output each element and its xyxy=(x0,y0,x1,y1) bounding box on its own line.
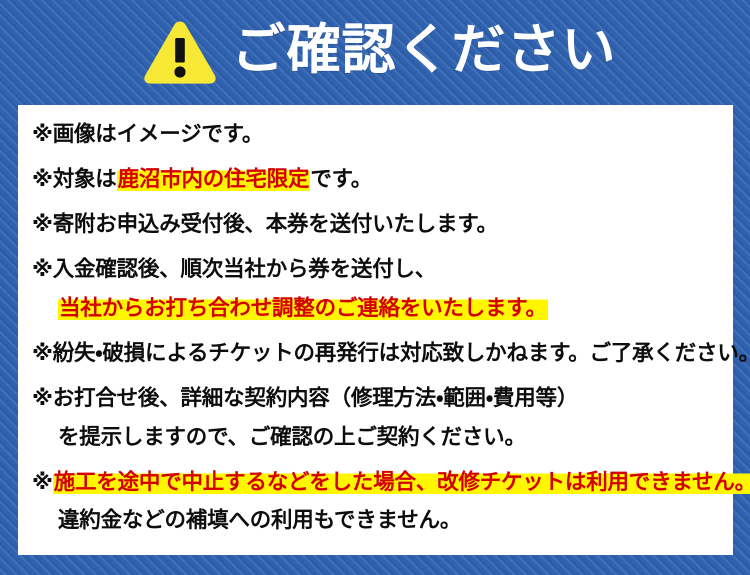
highlighted-text: 当社からお打ち合わせ調整のご連絡をいたします。 xyxy=(58,296,548,320)
notice-line: ※お打合せ後、詳細な契約内容（修理方法・範囲・費用等） xyxy=(32,385,719,413)
notice-line: 当社からお打ち合わせ調整のご連絡をいたします。 xyxy=(32,295,719,323)
notice-banner: ご確認ください ※画像はイメージです。※対象は鹿沼市内の住宅限定です。※寄附お申… xyxy=(0,0,750,575)
banner-title: ご確認ください xyxy=(232,23,617,77)
notice-text: 違約金などの補填への利用もできません。 xyxy=(58,508,461,532)
notice-text: を提示しますので、ご確認の上ご契約ください。 xyxy=(58,425,526,449)
notice-text: 寄附お申込み受付後、本券を送付いたします。 xyxy=(53,212,498,236)
notice-text: 対象は xyxy=(53,167,117,191)
bullet-mark: ※ xyxy=(32,212,53,236)
notice-line: 違約金などの補填への利用もできません。 xyxy=(32,507,719,535)
bullet-mark: ※ xyxy=(32,167,53,191)
bullet-mark: ※ xyxy=(32,470,53,494)
notice-no-reissue: ※紛失・破損によるチケットの再発行は対応致しかねます。ご了承ください。 xyxy=(32,340,719,368)
bullet-mark: ※ xyxy=(32,386,53,410)
notice-text: 紛失・破損によるチケットの再発行は対応致しかねます。ご了承ください。 xyxy=(53,341,750,365)
notice-line: ※画像はイメージです。 xyxy=(32,121,719,149)
bullet-mark: ※ xyxy=(32,341,53,365)
notice-line: ※入金確認後、順次当社から券を送付し、 xyxy=(32,256,719,284)
notice-cancellation: ※施工を途中で中止するなどをした場合、改修チケットは利用できません。違約金などの… xyxy=(32,469,719,536)
bullet-mark: ※ xyxy=(32,122,53,146)
warning-triangle-icon xyxy=(142,18,218,86)
notice-text: です。 xyxy=(310,167,372,191)
notice-text: 入金確認後、順次当社から券を送付し、 xyxy=(53,257,436,281)
notice-list: ※画像はイメージです。※対象は鹿沼市内の住宅限定です。※寄附お申込み受付後、本券… xyxy=(32,121,719,535)
banner-header: ご確認ください xyxy=(0,0,750,100)
notice-payment-confirmation: ※入金確認後、順次当社から券を送付し、当社からお打ち合わせ調整のご連絡をいたしま… xyxy=(32,256,719,323)
notice-line: を提示しますので、ご確認の上ご契約ください。 xyxy=(32,424,719,452)
notice-panel: ※画像はイメージです。※対象は鹿沼市内の住宅限定です。※寄附お申込み受付後、本券… xyxy=(18,105,733,555)
notice-line: ※寄附お申込み受付後、本券を送付いたします。 xyxy=(32,211,719,239)
notice-text: お打合せ後、詳細な契約内容（修理方法・範囲・費用等） xyxy=(53,386,578,410)
notice-line: ※紛失・破損によるチケットの再発行は対応致しかねます。ご了承ください。 xyxy=(32,340,719,368)
notice-target-area: ※対象は鹿沼市内の住宅限定です。 xyxy=(32,166,719,194)
notice-line: ※施工を途中で中止するなどをした場合、改修チケットは利用できません。 xyxy=(32,469,719,497)
notice-contract-details: ※お打合せ後、詳細な契約内容（修理方法・範囲・費用等）を提示しますので、ご確認の… xyxy=(32,385,719,452)
notice-ticket-dispatch: ※寄附お申込み受付後、本券を送付いたします。 xyxy=(32,211,719,239)
notice-text: 画像はイメージです。 xyxy=(53,122,263,146)
notice-image-disclaimer: ※画像はイメージです。 xyxy=(32,121,719,149)
highlighted-text: 鹿沼市内の住宅限定 xyxy=(117,167,311,191)
bullet-mark: ※ xyxy=(32,257,53,281)
highlighted-text: 施工を途中で中止するなどをした場合、改修チケットは利用できません。 xyxy=(53,470,750,494)
notice-line: ※対象は鹿沼市内の住宅限定です。 xyxy=(32,166,719,194)
